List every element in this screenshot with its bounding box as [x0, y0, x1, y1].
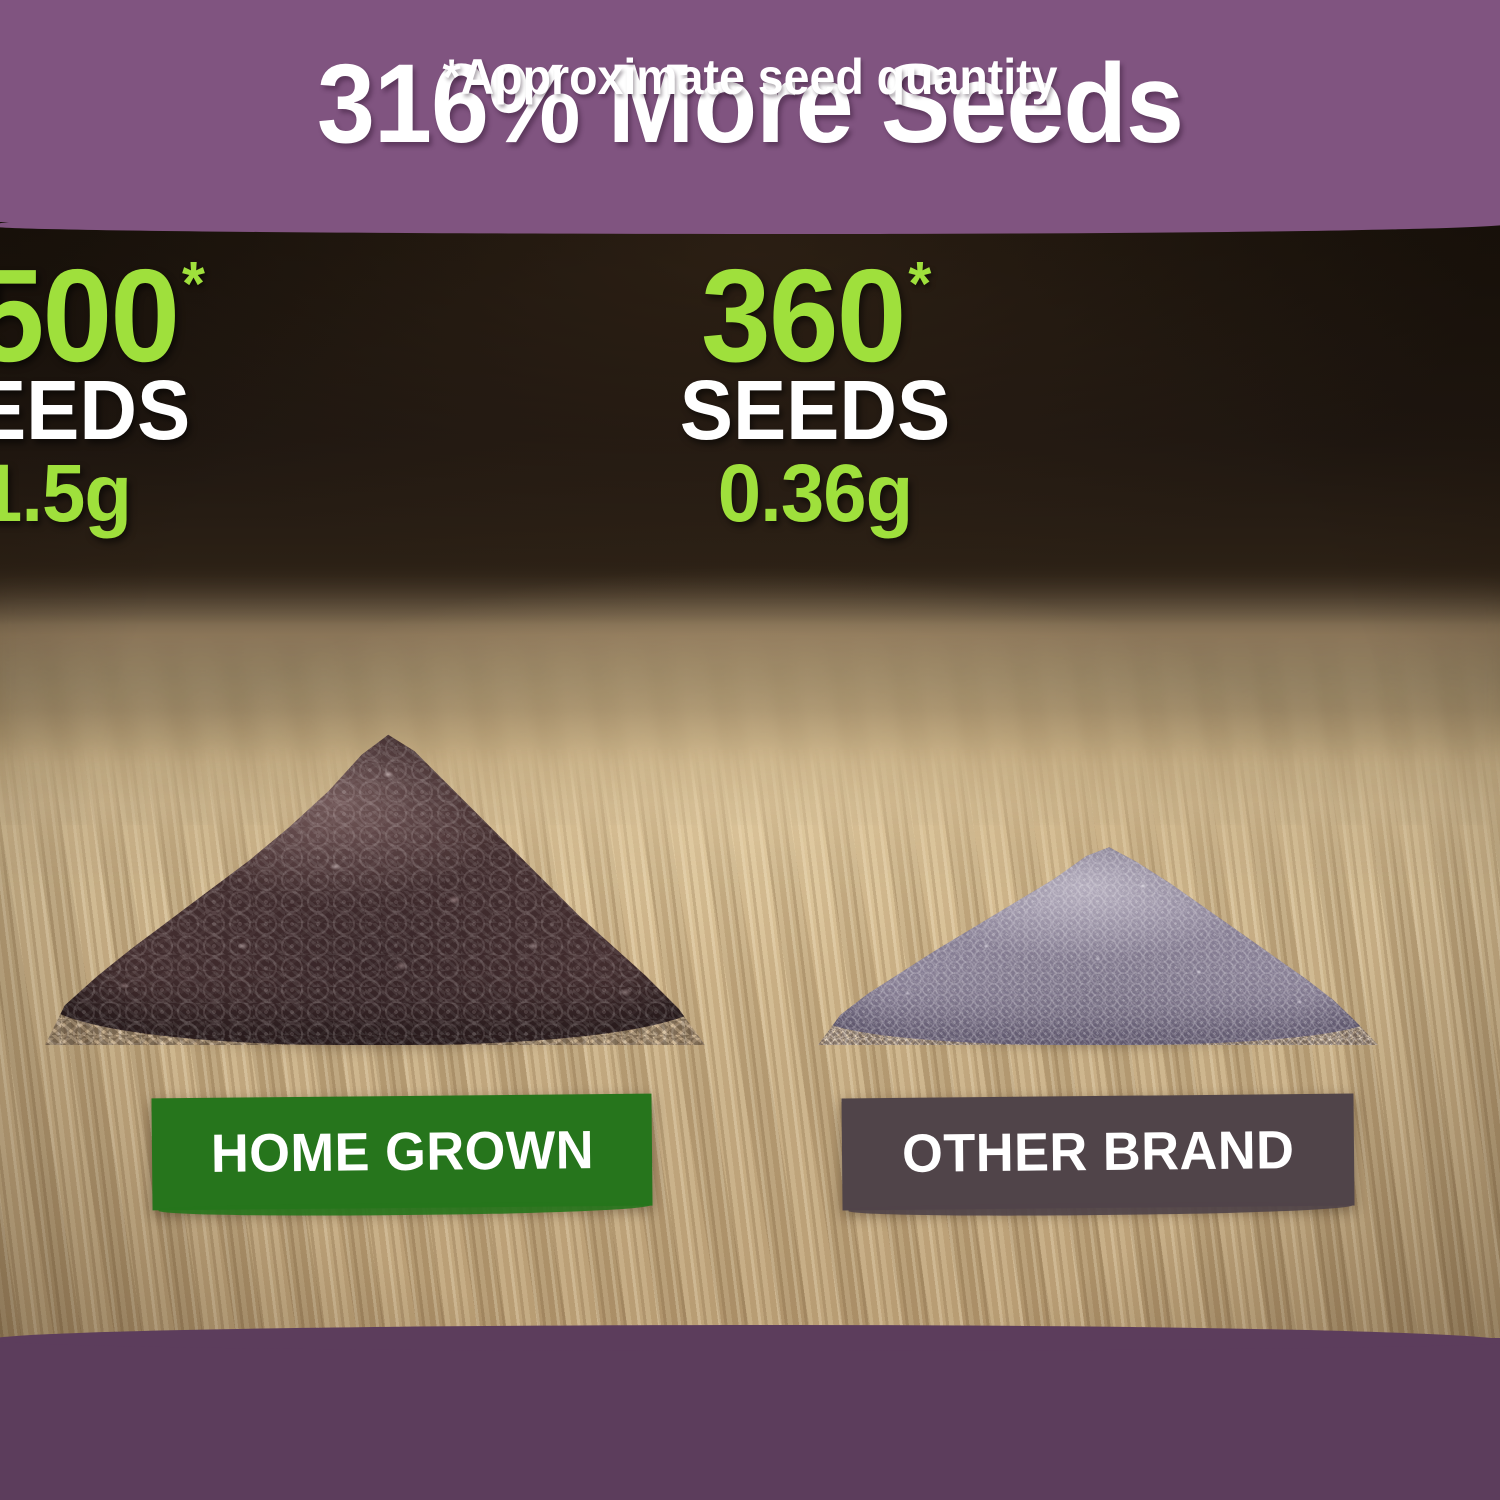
- footnote-asterisk: *: [182, 250, 203, 319]
- badge-other-brand: OTHER BRAND: [841, 1094, 1354, 1211]
- seed-weight-home-grown: 1.5g: [0, 453, 411, 535]
- footnote-text: *Approximate seed quantity: [53, 52, 1448, 102]
- stat-block-other-brand: 360* SEEDS 0.36g: [440, 250, 1190, 535]
- footnote-asterisk: *: [908, 250, 929, 319]
- seed-pile-home-grown: [45, 715, 705, 1045]
- seed-pile-grain-texture: [45, 715, 705, 1045]
- seed-unit-label: SEEDS: [0, 372, 411, 449]
- stat-blocks-row: 1500* SEEDS 1.5g 360* SEEDS 0.36g: [0, 250, 1500, 535]
- badge-home-grown: HOME GROWN: [151, 1094, 652, 1211]
- badge-home-grown-label: HOME GROWN: [210, 1119, 594, 1185]
- seed-pile-other-brand: [818, 830, 1378, 1045]
- seed-pile-grain-texture: [818, 830, 1378, 1045]
- stat-block-home-grown: 1500* SEEDS 1.5g: [0, 250, 430, 535]
- seed-comparison-infographic: 1500* SEEDS 1.5g 360* SEEDS 0.36g HOME G…: [0, 0, 1500, 1500]
- badge-other-brand-label: OTHER BRAND: [902, 1119, 1295, 1185]
- seed-unit-label: SEEDS: [459, 372, 1172, 449]
- footer-band: [0, 1338, 1500, 1500]
- seed-weight-other-brand: 0.36g: [459, 453, 1172, 535]
